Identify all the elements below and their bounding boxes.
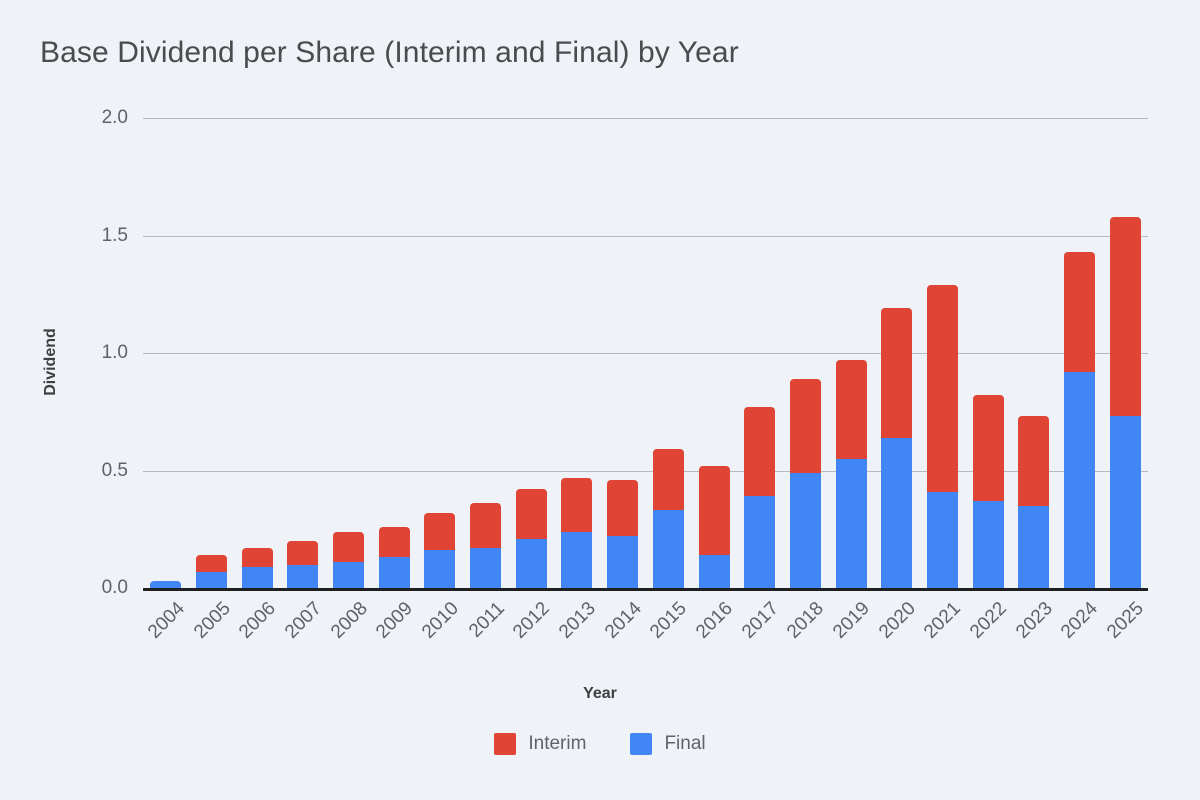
y-axis-tick-label: 0.5 <box>102 460 128 482</box>
x-axis-tick-label: 2004 <box>140 598 189 647</box>
bar-segment-final[interactable] <box>744 496 775 588</box>
bar-group[interactable] <box>150 118 181 588</box>
x-axis-tick-label: 2013 <box>551 598 600 647</box>
bar-group[interactable] <box>424 118 455 588</box>
y-axis-tick-label: 2.0 <box>102 107 128 129</box>
bar-segment-interim[interactable] <box>1110 217 1141 417</box>
bar-segment-final[interactable] <box>927 492 958 588</box>
bar-group[interactable] <box>242 118 273 588</box>
chart-legend: InterimFinal <box>0 733 1200 755</box>
x-axis-tick-label: 2019 <box>825 598 874 647</box>
bar-segment-final[interactable] <box>973 501 1004 588</box>
x-axis-tick-label: 2017 <box>734 598 783 647</box>
bar-segment-interim[interactable] <box>881 308 912 437</box>
bar-segment-interim[interactable] <box>379 527 410 558</box>
x-axis-tick-label: 2021 <box>916 598 965 647</box>
bar-segment-interim[interactable] <box>836 360 867 459</box>
bar-group[interactable] <box>1018 118 1049 588</box>
x-axis-tick-label: 2012 <box>505 598 554 647</box>
chart-container: Base Dividend per Share (Interim and Fin… <box>0 0 1200 800</box>
x-axis-tick-label: 2009 <box>368 598 417 647</box>
bar-segment-final[interactable] <box>1018 506 1049 588</box>
bar-segment-interim[interactable] <box>287 541 318 565</box>
bar-group[interactable] <box>333 118 364 588</box>
bar-segment-final[interactable] <box>1064 372 1095 588</box>
bar-segment-interim[interactable] <box>470 503 501 548</box>
bar-segment-interim[interactable] <box>516 489 547 538</box>
y-axis-tick-label: 0.0 <box>102 577 128 599</box>
y-axis-tick-label: 1.5 <box>102 225 128 247</box>
bar-segment-final[interactable] <box>470 548 501 588</box>
bar-segment-final[interactable] <box>516 539 547 588</box>
bar-group[interactable] <box>653 118 684 588</box>
bar-segment-final[interactable] <box>379 557 410 588</box>
x-axis-tick-label: 2016 <box>688 598 737 647</box>
bar-group[interactable] <box>287 118 318 588</box>
legend-label: Interim <box>528 733 586 755</box>
bar-segment-final[interactable] <box>881 438 912 588</box>
bar-group[interactable] <box>699 118 730 588</box>
bar-segment-final[interactable] <box>333 562 364 588</box>
bar-segment-final[interactable] <box>790 473 821 588</box>
legend-swatch-icon <box>494 733 516 755</box>
x-axis-line <box>143 588 1148 591</box>
x-axis-tick-label: 2023 <box>1008 598 1057 647</box>
bar-group[interactable] <box>516 118 547 588</box>
bar-segment-final[interactable] <box>150 581 181 588</box>
bar-segment-final[interactable] <box>242 567 273 588</box>
bar-segment-final[interactable] <box>607 536 638 588</box>
x-axis-tick-label: 2024 <box>1054 598 1103 647</box>
bar-segment-interim[interactable] <box>973 395 1004 501</box>
bar-group[interactable] <box>790 118 821 588</box>
bar-group[interactable] <box>607 118 638 588</box>
x-axis-tick-label: 2022 <box>962 598 1011 647</box>
chart-title: Base Dividend per Share (Interim and Fin… <box>40 36 739 70</box>
bar-group[interactable] <box>881 118 912 588</box>
bar-segment-interim[interactable] <box>1064 252 1095 372</box>
x-axis-tick-label: 2018 <box>779 598 828 647</box>
y-axis-tick-labels: 0.00.51.01.52.0 <box>0 118 128 588</box>
bar-group[interactable] <box>1110 118 1141 588</box>
bar-segment-interim[interactable] <box>699 466 730 555</box>
bar-segment-interim[interactable] <box>653 449 684 510</box>
x-axis-tick-label: 2005 <box>186 598 235 647</box>
bar-segment-final[interactable] <box>1110 416 1141 588</box>
x-axis-tick-labels: 2004200520062007200820092010201120122013… <box>143 592 1148 672</box>
bar-segment-interim[interactable] <box>196 555 227 571</box>
bar-segment-interim[interactable] <box>927 285 958 492</box>
bar-segment-final[interactable] <box>196 572 227 588</box>
bar-segment-interim[interactable] <box>1018 416 1049 505</box>
bar-group[interactable] <box>744 118 775 588</box>
bar-segment-interim[interactable] <box>242 548 273 567</box>
x-axis-title: Year <box>0 685 1200 703</box>
bar-group[interactable] <box>379 118 410 588</box>
x-axis-tick-label: 2025 <box>1099 598 1148 647</box>
bar-segment-interim[interactable] <box>790 379 821 473</box>
x-axis-tick-label: 2008 <box>323 598 372 647</box>
plot-area <box>143 118 1148 588</box>
bar-segment-interim[interactable] <box>744 407 775 496</box>
bar-group[interactable] <box>927 118 958 588</box>
y-axis-tick-label: 1.0 <box>102 342 128 364</box>
legend-swatch-icon <box>630 733 652 755</box>
x-axis-tick-label: 2006 <box>231 598 280 647</box>
x-axis-tick-label: 2015 <box>642 598 691 647</box>
x-axis-tick-label: 2010 <box>414 598 463 647</box>
bar-segment-interim[interactable] <box>607 480 638 536</box>
bar-group[interactable] <box>561 118 592 588</box>
bar-group[interactable] <box>836 118 867 588</box>
bar-segment-interim[interactable] <box>333 532 364 563</box>
bar-segment-final[interactable] <box>836 459 867 588</box>
bar-segment-interim[interactable] <box>561 478 592 532</box>
bar-segment-final[interactable] <box>653 510 684 588</box>
bar-group[interactable] <box>470 118 501 588</box>
bar-group[interactable] <box>196 118 227 588</box>
bar-segment-final[interactable] <box>424 550 455 588</box>
legend-item[interactable]: Final <box>630 733 705 755</box>
x-axis-tick-label: 2020 <box>871 598 920 647</box>
x-axis-tick-label: 2007 <box>277 598 326 647</box>
x-axis-tick-label: 2014 <box>597 598 646 647</box>
bar-segment-interim[interactable] <box>424 513 455 551</box>
bar-group[interactable] <box>1064 118 1095 588</box>
legend-label: Final <box>664 733 705 755</box>
bar-group[interactable] <box>973 118 1004 588</box>
legend-item[interactable]: Interim <box>494 733 586 755</box>
bar-segment-final[interactable] <box>699 555 730 588</box>
bar-segment-final[interactable] <box>561 532 592 588</box>
x-axis-tick-label: 2011 <box>460 598 509 647</box>
bar-segment-final[interactable] <box>287 565 318 589</box>
